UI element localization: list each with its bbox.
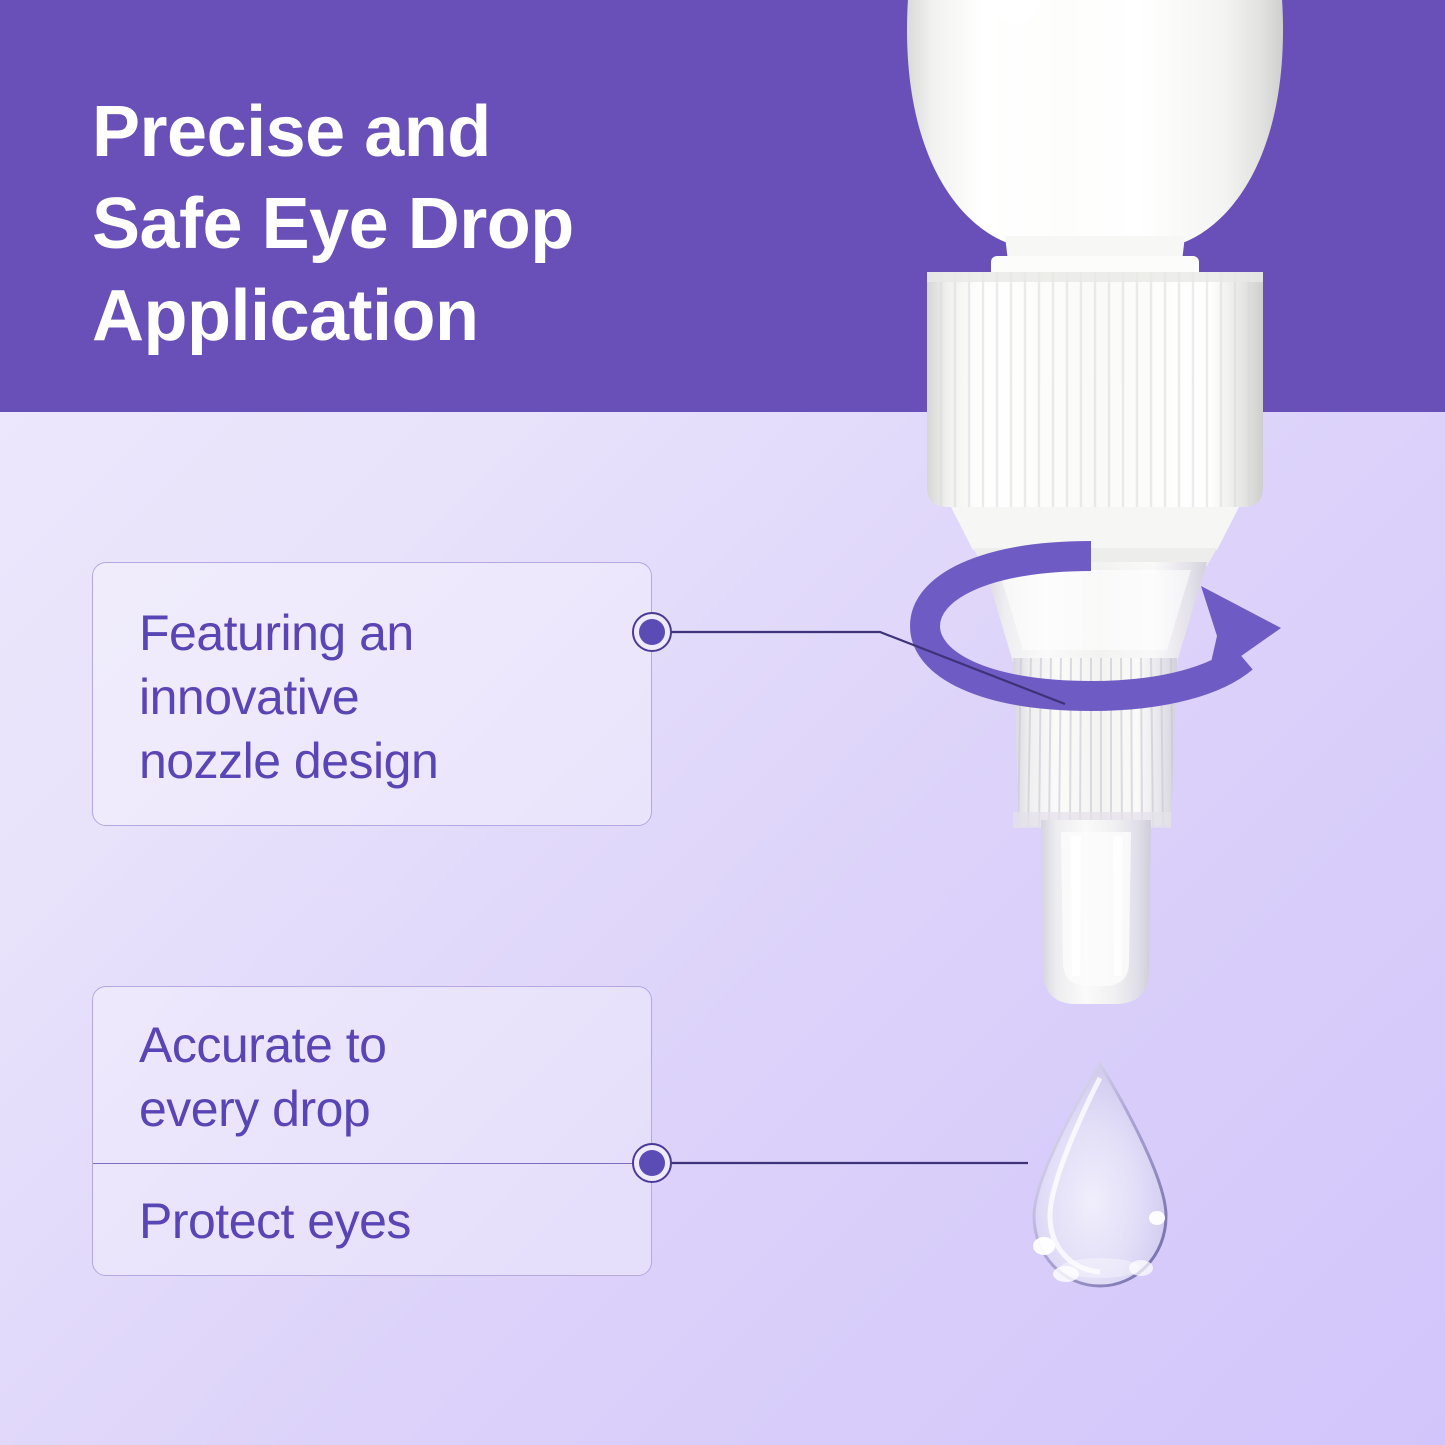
droplet-icon	[1010, 1058, 1190, 1293]
callout-accuracy-secondary-label: Protect eyes	[139, 1189, 411, 1253]
connector-dot-icon-nozzle[interactable]	[632, 612, 672, 652]
infographic-canvas: Precise and Safe Eye Drop Application	[0, 0, 1445, 1445]
callout-nozzle-design-label: Featuring an innovative nozzle design	[139, 601, 438, 793]
callout-nozzle-design[interactable]: Featuring an innovative nozzle design	[92, 562, 652, 826]
rotation-arrow-icon	[925, 556, 1281, 696]
callout-accuracy-primary-label: Accurate to every drop	[139, 1013, 386, 1141]
callout-divider	[93, 1163, 651, 1164]
connector-dot-icon-accuracy[interactable]	[632, 1143, 672, 1183]
callout-accuracy[interactable]: Accurate to every drop Protect eyes	[92, 986, 652, 1276]
page-title: Precise and Safe Eye Drop Application	[92, 86, 752, 362]
